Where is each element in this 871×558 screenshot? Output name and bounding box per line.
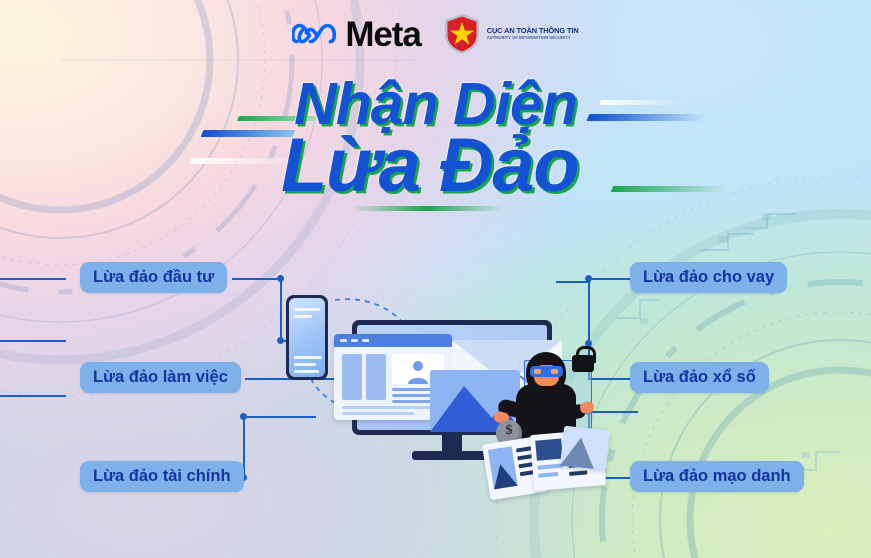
smartphone-icon	[286, 295, 328, 380]
connector-left-edge-3	[0, 395, 66, 397]
connector-right-2	[588, 378, 630, 380]
meta-wordmark: Meta	[345, 17, 420, 52]
headline-line-2: Lừa Đảo	[281, 122, 578, 209]
connector-left-1	[232, 278, 280, 280]
document-card-3	[560, 426, 610, 471]
label-lua-dao-dau-tu[interactable]: Lừa đảo đầu tư	[80, 262, 227, 293]
headline-block: Nhận Diện Lừa Đảo	[0, 58, 871, 218]
ais-subtitle: AUTHORITY OF INFORMATION SECURITY	[487, 36, 579, 41]
label-lua-dao-xo-so[interactable]: Lừa đảo xổ số	[630, 362, 769, 393]
label-lua-dao-cho-vay[interactable]: Lừa đảo cho vay	[630, 262, 787, 293]
connector-left-edge-2	[0, 340, 66, 342]
monitor-base	[412, 451, 492, 460]
vietnam-shield-star-icon	[443, 13, 481, 55]
connector-left-1-drop	[280, 278, 282, 340]
smartphone-screen	[289, 298, 325, 377]
ais-text-block: CỤC AN TOÀN THÔNG TIN AUTHORITY OF INFOR…	[487, 27, 579, 40]
accent-dash-right-green	[611, 186, 725, 192]
browser-titlebar	[334, 334, 452, 347]
accent-dash-right-blue	[587, 114, 708, 121]
connector-right-1	[588, 278, 630, 280]
monitor-neck	[442, 433, 462, 453]
hacker-eye	[551, 369, 558, 374]
connector-right-edge-1	[556, 281, 590, 283]
infographic-poster: Meta CỤC AN TOÀN THÔNG TIN AUTHORITY OF …	[0, 0, 871, 558]
stolen-documents-icon	[486, 432, 610, 498]
meta-logo: Meta	[292, 17, 420, 52]
label-lua-dao-mao-danh[interactable]: Lừa đảo mạo danh	[630, 461, 804, 492]
connector-right-1-drop	[588, 281, 590, 345]
label-lua-dao-tai-chinh[interactable]: Lừa đảo tài chính	[80, 461, 244, 492]
browser-dot	[340, 339, 347, 342]
accent-dash-right-white	[599, 100, 687, 105]
browser-dot	[351, 339, 358, 342]
ais-logo: CỤC AN TOÀN THÔNG TIN AUTHORITY OF INFOR…	[443, 13, 579, 55]
hacker-mask	[530, 366, 563, 377]
connector-right-edge-3	[592, 411, 638, 413]
hacker-eye	[534, 369, 541, 374]
label-lua-dao-lam-viec[interactable]: Lừa đảo làm việc	[80, 362, 241, 393]
browser-dot	[362, 339, 369, 342]
connector-left-edge-1	[0, 278, 66, 280]
meta-infinity-icon	[292, 20, 336, 48]
logo-bar: Meta CỤC AN TOÀN THÔNG TIN AUTHORITY OF …	[0, 10, 871, 58]
